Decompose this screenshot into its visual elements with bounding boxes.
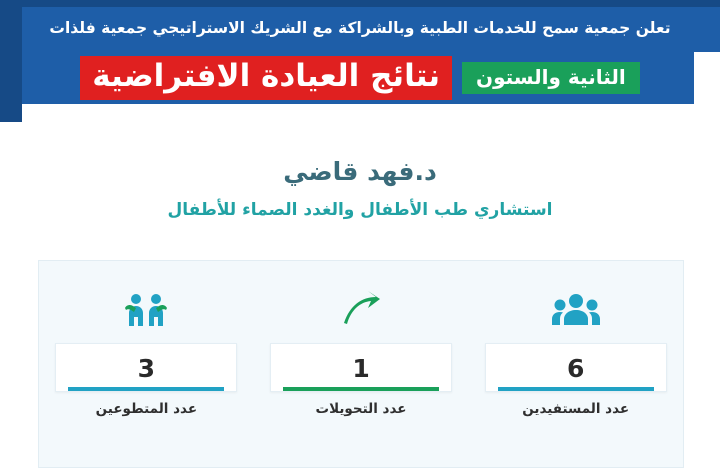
stats-panel: 3 عدد المتطوعين 1 عدد التحويلات (38, 260, 684, 468)
header-title-row: نتائج العيادة الافتراضية الثانية والستون (0, 56, 720, 100)
doctor-name: د.فهد قاضي (0, 157, 720, 186)
stat-underline (283, 387, 439, 391)
stat-value: 6 (486, 356, 666, 381)
stat-label: عدد التحويلات (316, 401, 407, 417)
stat-volunteers: 3 عدد المتطوعين (56, 287, 236, 417)
stat-referrals: 1 عدد التحويلات (271, 287, 451, 417)
header-banner: تعلن جمعية سمح للخدمات الطبية وبالشراكة … (0, 0, 720, 122)
header-top-stripe (0, 0, 720, 7)
stat-underline (68, 387, 224, 391)
stat-value: 3 (56, 356, 236, 381)
header-right-wedge (694, 52, 720, 104)
stat-underline (498, 387, 654, 391)
stats-row: 3 عدد المتطوعين 1 عدد التحويلات (39, 287, 683, 417)
beneficiaries-icon (551, 287, 601, 333)
header-announcement-text: تعلن جمعية سمح للخدمات الطبية وبالشراكة … (0, 19, 720, 37)
stat-label: عدد المستفيدين (522, 401, 629, 417)
stat-beneficiaries: 6 عدد المستفيدين (486, 287, 666, 417)
header-bottom-spacer (22, 104, 720, 122)
stat-card: 3 (55, 343, 237, 392)
header-title-main: نتائج العيادة الافتراضية (80, 56, 452, 100)
header-title-edition: الثانية والستون (462, 62, 640, 94)
volunteers-icon (123, 287, 169, 333)
stat-card: 6 (485, 343, 667, 392)
arrow-referral-icon (338, 287, 384, 333)
stat-value: 1 (271, 356, 451, 381)
content-area: د.فهد قاضي استشاري طب الأطفال والغدد الص… (0, 122, 720, 470)
stat-card: 1 (270, 343, 452, 392)
stat-label: عدد المتطوعين (96, 401, 197, 417)
doctor-specialty: استشاري طب الأطفال والغدد الصماء للأطفال (0, 200, 720, 220)
